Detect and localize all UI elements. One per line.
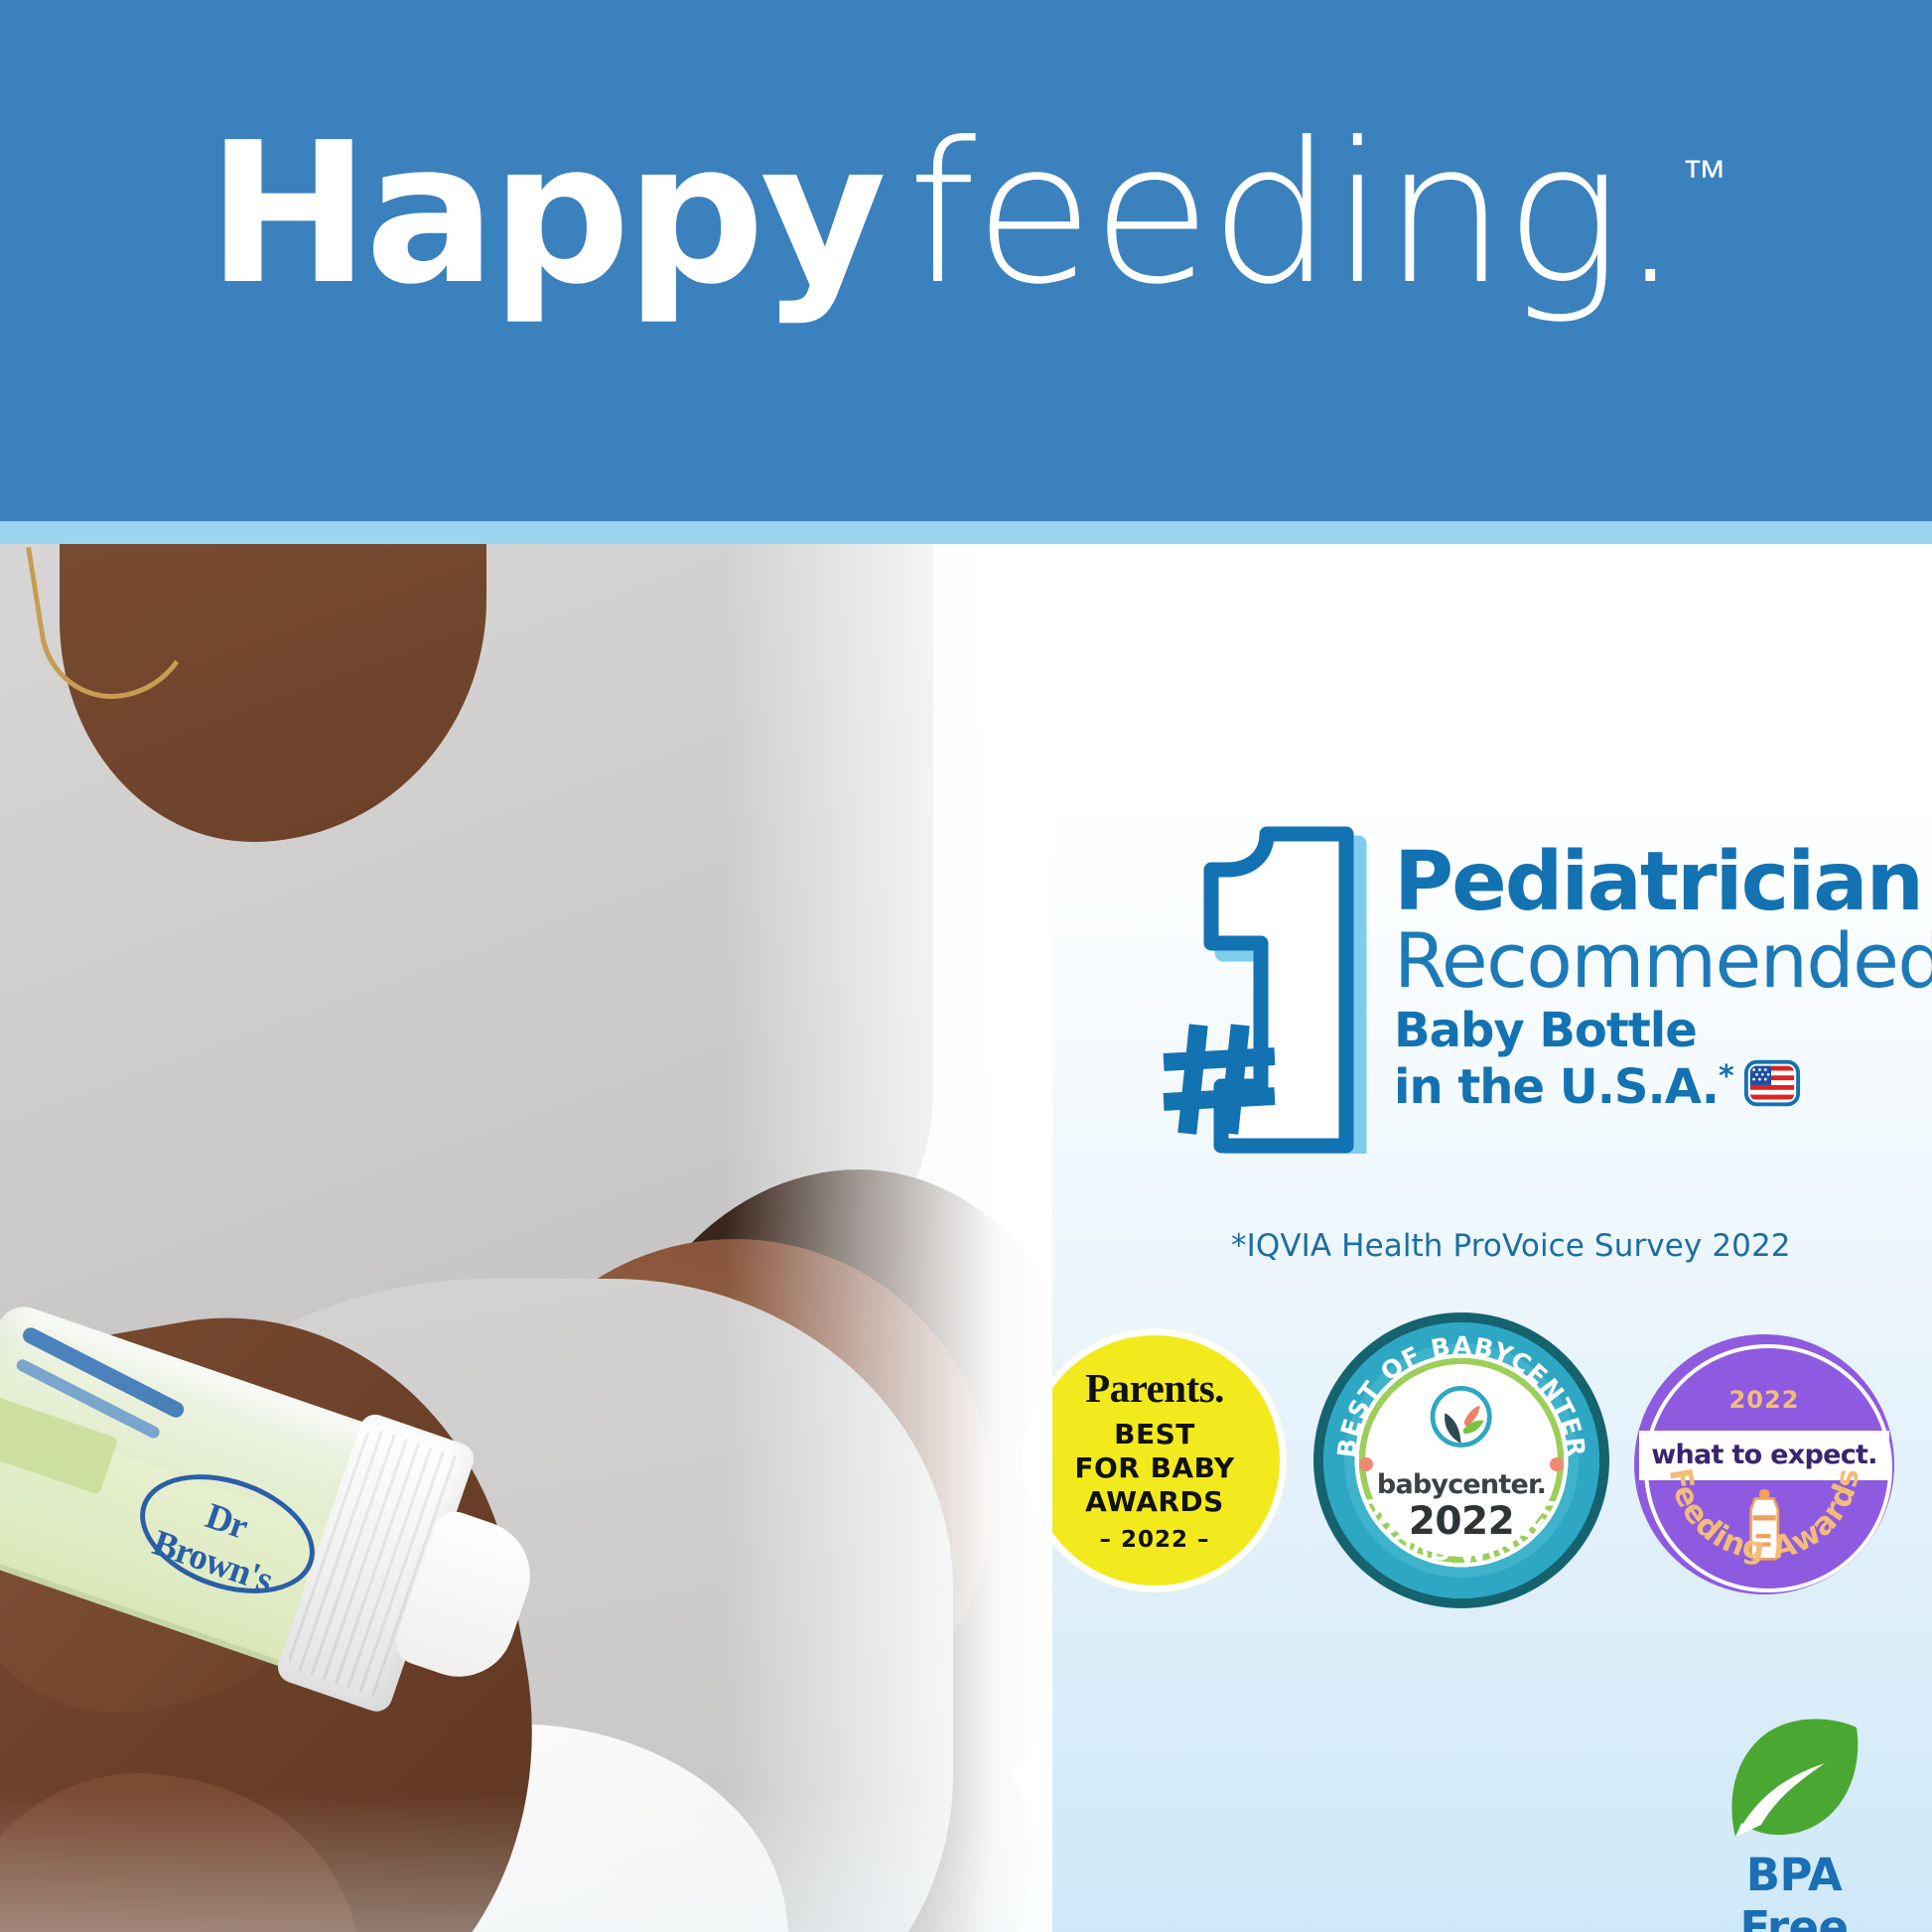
iqvia-footnote: *IQVIA Health ProVoice Survey 2022 xyxy=(1231,1228,1791,1264)
parents-line-3: AWARDS xyxy=(1085,1486,1224,1518)
babycenter-brand: babycenter. xyxy=(1313,1469,1609,1500)
wte-arc-bottom: Feeding Awards xyxy=(1662,1465,1866,1567)
svg-text:Feeding Awards: Feeding Awards xyxy=(1662,1465,1866,1567)
pediatrician-line-4: in the U.S.A.* xyxy=(1394,1060,1733,1115)
parents-line-1: BEST xyxy=(1114,1419,1195,1450)
header-accent-stripe xyxy=(0,521,1932,544)
bpa-free-label: BPA Free xyxy=(1700,1849,1888,1932)
us-flag-icon xyxy=(1743,1054,1801,1112)
award-badge-babycenter: BEST OF BABYCENTER AWARD WINNER babycent… xyxy=(1313,1312,1609,1608)
pediatrician-asterisk: * xyxy=(1719,1059,1733,1094)
trademark-symbol: ™ xyxy=(1681,150,1726,202)
award-badge-parents: Parents. BEST FOR BABY AWARDS – 2022 – xyxy=(1023,1328,1287,1592)
pediatrician-line-3: Baby Bottle xyxy=(1394,1005,1896,1058)
wte-arc-text: Feeding Awards xyxy=(1634,1334,1894,1594)
page-title: Happyfeeding.™ xyxy=(0,117,1932,312)
parents-year: – 2022 – xyxy=(1099,1527,1209,1553)
parents-brand: Parents. xyxy=(1085,1368,1224,1409)
pediatrician-line-1: Pediatrician xyxy=(1394,844,1896,922)
photo-right-fade xyxy=(725,544,1052,1932)
bpa-free-mark: BPA Free xyxy=(1700,1716,1913,1914)
pediatrician-line-4-text: in the U.S.A. xyxy=(1394,1059,1719,1115)
pediatrician-recommended-badge: Pediatrician Recommended Baby Bottle in … xyxy=(1160,826,1894,1154)
pediatrician-text-block: Pediatrician Recommended Baby Bottle in … xyxy=(1394,844,1896,1116)
parents-line-2: FOR BABY xyxy=(1074,1452,1234,1484)
leaf-icon xyxy=(1722,1716,1870,1845)
award-badge-what-to-expect: 2022 what to expect. Feeding Awards xyxy=(1634,1334,1894,1594)
pediatrician-line-2: Recommended xyxy=(1394,922,1896,1000)
photo-bottom-fade xyxy=(0,1793,1052,1932)
babycenter-sprout-icon xyxy=(1414,1384,1508,1460)
headline-light: feeding. xyxy=(907,101,1679,328)
ad-canvas: Happyfeeding.™ xyxy=(0,0,1932,1932)
hero-photo: Dr Brown's xyxy=(0,544,1052,1932)
babycenter-year: 2022 xyxy=(1313,1499,1609,1544)
headline-bold: Happy xyxy=(207,101,883,328)
hash-symbol xyxy=(1160,1021,1279,1138)
